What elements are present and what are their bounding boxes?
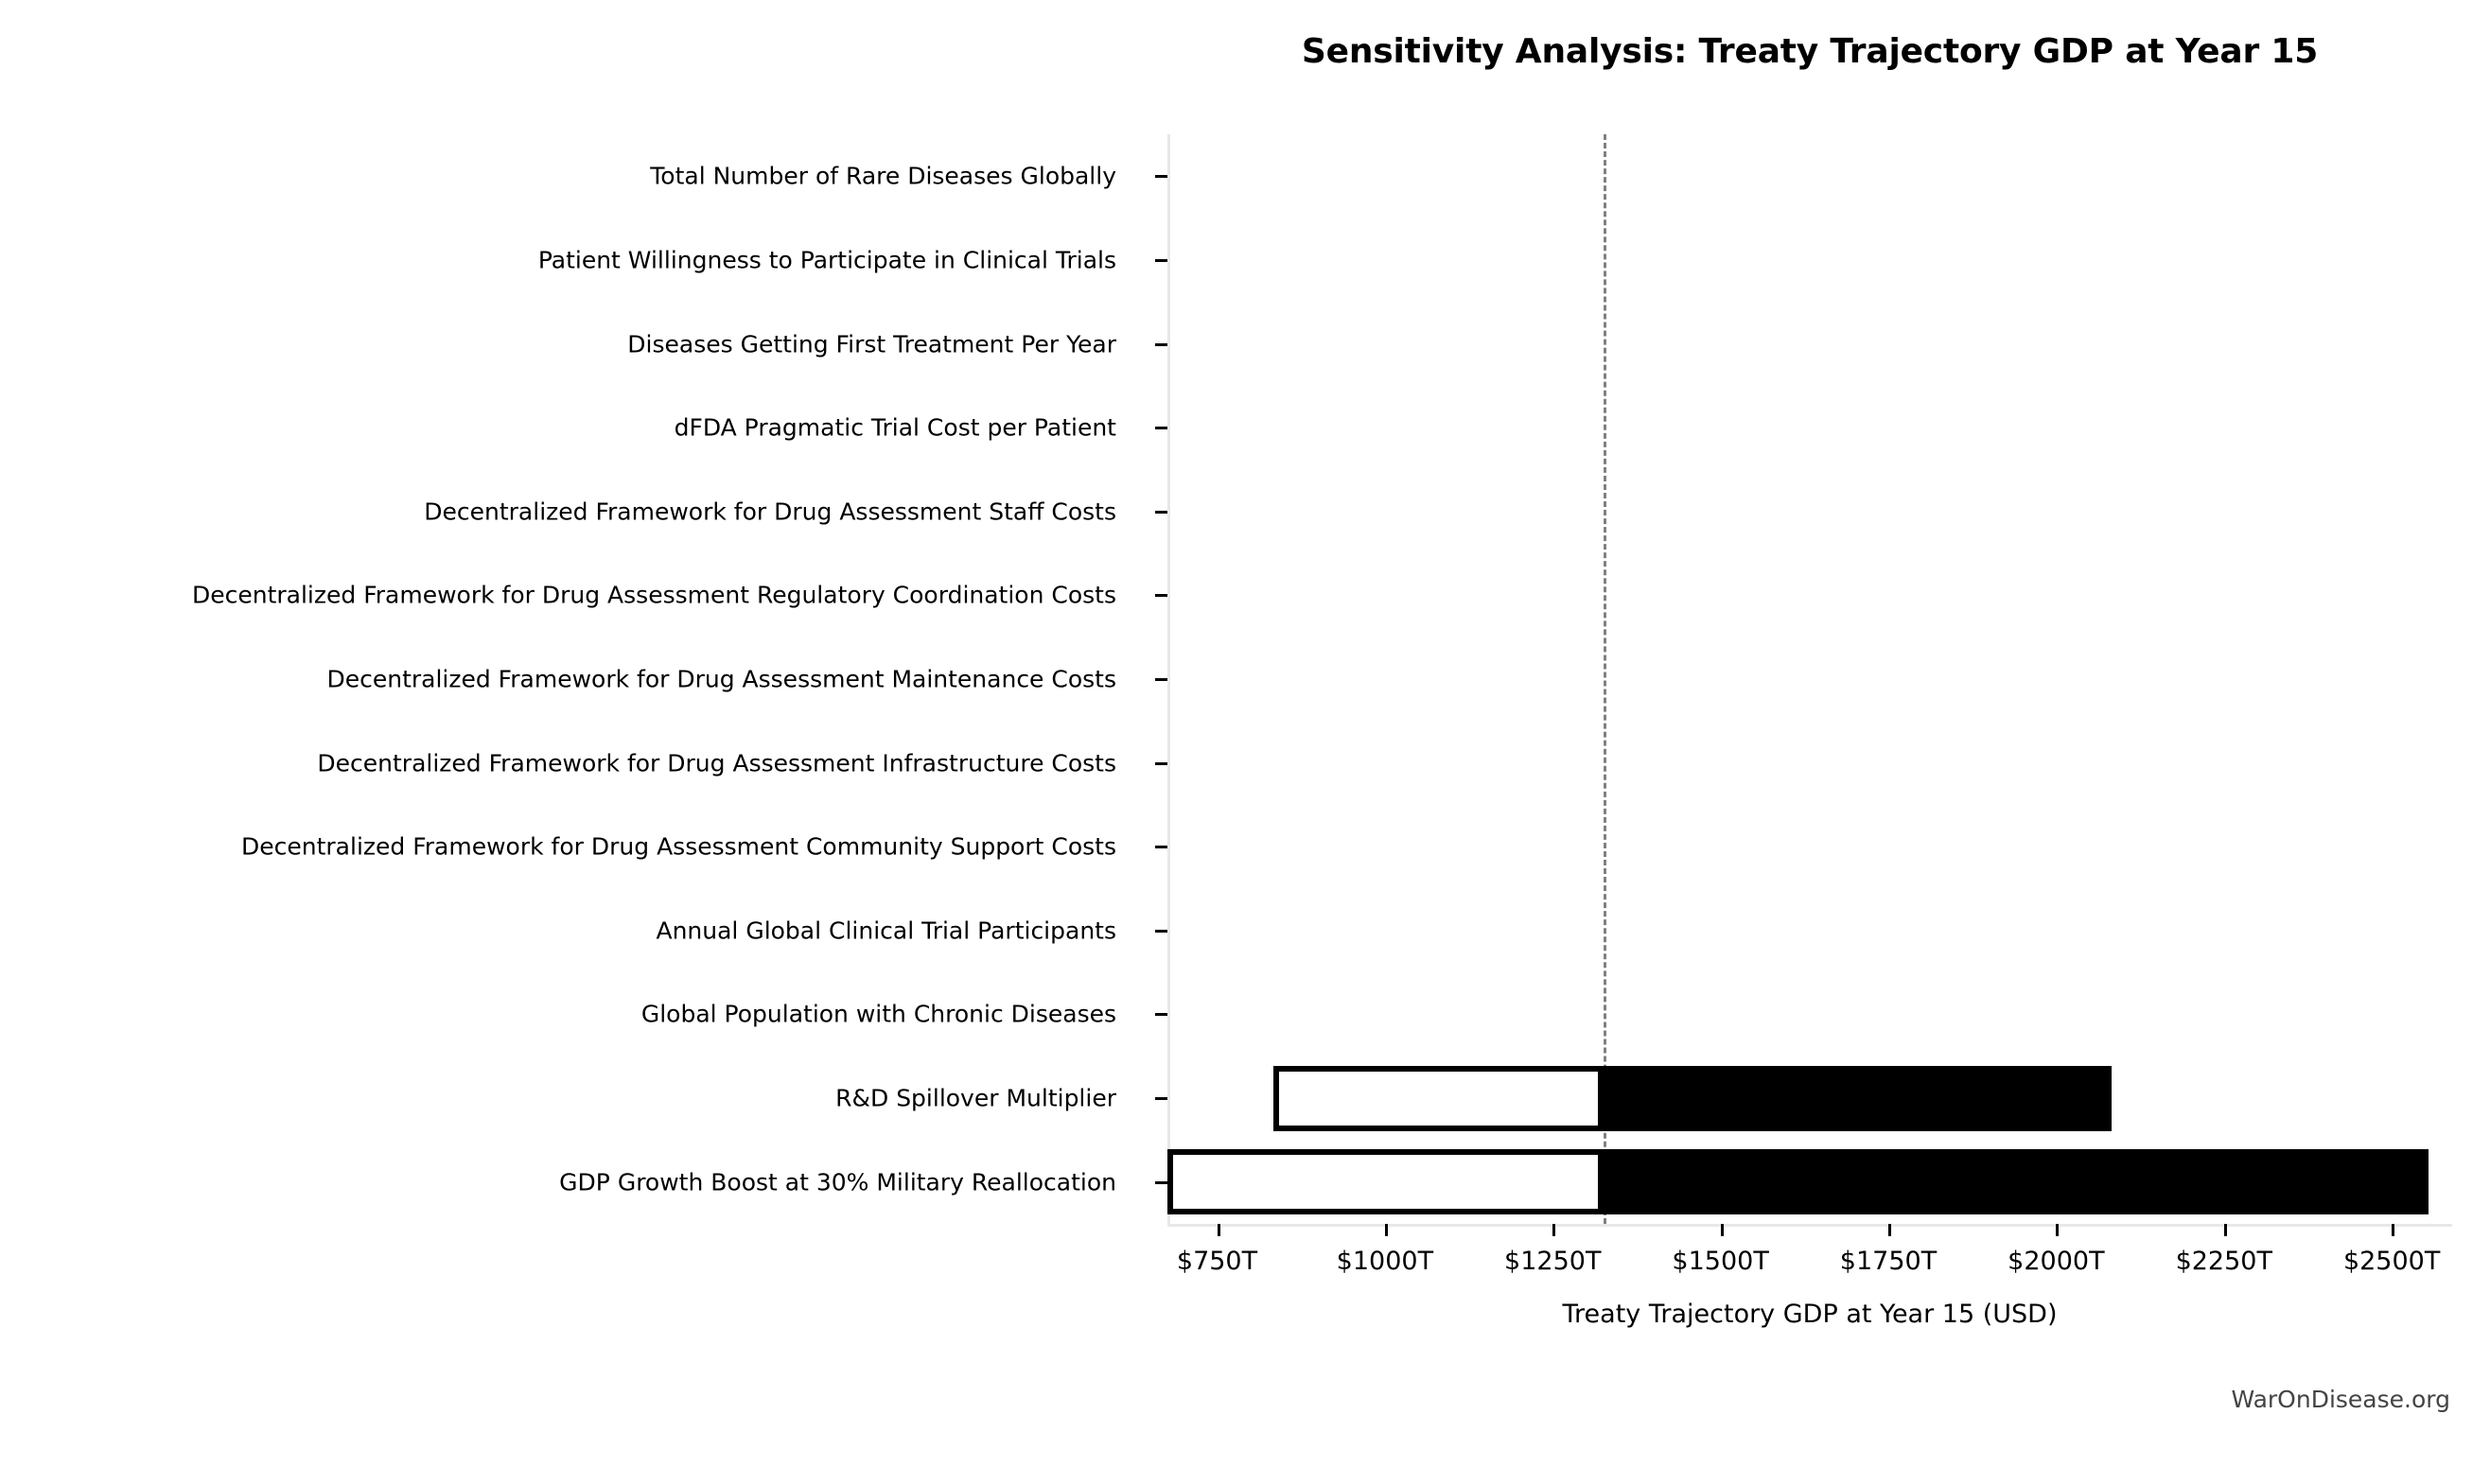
footer-credit: WarOnDisease.org [2231, 1386, 2450, 1413]
y-axis-tick [1155, 1097, 1167, 1100]
axis-spine-bottom [1167, 1224, 2452, 1227]
y-axis-category-label: Annual Global Clinical Trial Participant… [656, 918, 1116, 942]
page-title: Sensitivity Analysis: Treaty Trajectory … [1167, 32, 2452, 71]
x-axis-tick-label: $2250T [2176, 1247, 2272, 1276]
y-axis-tick [1155, 1013, 1167, 1016]
x-axis-tick [2056, 1224, 2059, 1236]
bar-high-segment [1604, 1066, 2112, 1131]
y-axis-category-label: R&D Spillover Multiplier [835, 1087, 1116, 1110]
x-axis-tick [1385, 1224, 1388, 1236]
y-axis-category-label: Decentralized Framework for Drug Assessm… [317, 751, 1116, 775]
x-axis-tick-label: $1000T [1337, 1247, 1433, 1276]
x-axis-tick-label: $1500T [1672, 1247, 1768, 1276]
y-axis-tick [1155, 427, 1167, 429]
y-axis-category-label: Total Number of Rare Diseases Globally [650, 165, 1116, 188]
y-axis-tick [1155, 259, 1167, 262]
y-axis-tick [1155, 1181, 1167, 1184]
x-axis-tick [1552, 1224, 1555, 1236]
x-axis-tick [1888, 1224, 1891, 1236]
y-axis-tick [1155, 511, 1167, 514]
plot-area: Total Number of Rare Diseases GloballyPa… [1167, 134, 2452, 1224]
x-axis-tick-label: $750T [1177, 1247, 1257, 1276]
bar-low-segment [1273, 1066, 1604, 1131]
x-axis-tick-label: $1250T [1504, 1247, 1601, 1276]
y-axis-category-label: Global Population with Chronic Diseases [641, 1003, 1116, 1026]
y-axis-category-label: GDP Growth Boost at 30% Military Realloc… [559, 1170, 1116, 1194]
y-axis-tick [1155, 343, 1167, 346]
bar-high-segment [1604, 1149, 2429, 1214]
y-axis-category-label: Decentralized Framework for Drug Assessm… [326, 668, 1116, 691]
x-axis-tick [1721, 1224, 1724, 1236]
y-axis-category-label: Decentralized Framework for Drug Assessm… [192, 584, 1116, 607]
y-axis-category-label: Patient Willingness to Participate in Cl… [538, 248, 1116, 271]
x-axis-tick [1218, 1224, 1220, 1236]
sensitivity-tornado-chart: Sensitivity Analysis: Treaty Trajectory … [0, 0, 2490, 1484]
x-axis-label: Treaty Trajectory GDP at Year 15 (USD) [1167, 1300, 2452, 1329]
baseline-reference-line [1604, 134, 1606, 1224]
y-axis-category-label: Diseases Getting First Treatment Per Yea… [627, 332, 1116, 356]
x-axis-tick-label: $1750T [1840, 1247, 1937, 1276]
axis-spine-left [1167, 134, 1170, 1224]
y-axis-category-label: Decentralized Framework for Drug Assessm… [424, 499, 1116, 523]
x-axis-tick [2392, 1224, 2394, 1236]
x-axis-tick [2224, 1224, 2227, 1236]
y-axis-tick [1155, 175, 1167, 178]
y-axis-category-label: dFDA Pragmatic Trial Cost per Patient [675, 416, 1116, 440]
x-axis-tick-label: $2500T [2343, 1247, 2440, 1276]
y-axis-tick [1155, 594, 1167, 597]
y-axis-tick [1155, 846, 1167, 848]
y-axis-tick [1155, 678, 1167, 681]
bar-low-segment [1167, 1149, 1604, 1214]
x-axis-tick-label: $2000T [2008, 1247, 2104, 1276]
y-axis-tick [1155, 930, 1167, 933]
y-axis-category-label: Decentralized Framework for Drug Assessm… [241, 835, 1116, 859]
y-axis-tick [1155, 762, 1167, 765]
